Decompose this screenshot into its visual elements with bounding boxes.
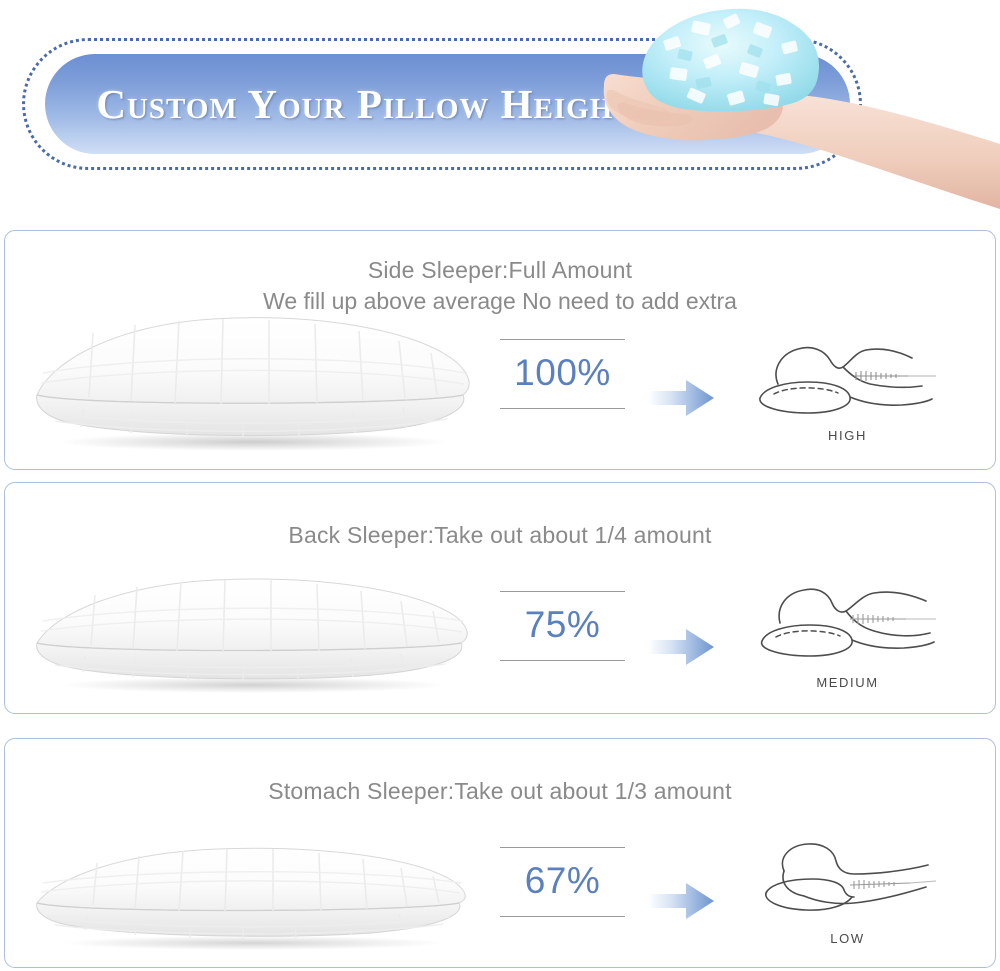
rule-bottom xyxy=(500,916,625,917)
arrow-right-icon xyxy=(646,625,716,669)
sleeper-card-back: Back Sleeper:Take out about 1/4 amount xyxy=(4,482,996,714)
sleeper-card-side: Side Sleeper:Full Amount We fill up abov… xyxy=(4,230,996,470)
posture-diagram-high xyxy=(750,336,945,421)
percent-value: 75% xyxy=(500,592,625,660)
forearm-shape xyxy=(750,93,1000,209)
shredded-foam-clump xyxy=(642,9,819,112)
posture-diagram-low xyxy=(750,839,945,924)
posture-label: HIGH xyxy=(750,428,945,443)
percent-block: 75% xyxy=(500,591,625,661)
pillow-image xyxy=(23,309,483,454)
posture-diagram-slot: MEDIUM xyxy=(750,583,945,690)
posture-label: LOW xyxy=(750,931,945,946)
pillow-image xyxy=(23,563,483,698)
page-title: Custom Your Pillow Height xyxy=(45,54,685,154)
arrow-right-icon xyxy=(646,376,716,420)
percent-block: 100% xyxy=(500,339,625,409)
header-banner: Custom Your Pillow Height xyxy=(0,0,1000,222)
percent-value: 100% xyxy=(500,340,625,408)
posture-diagram-slot: HIGH xyxy=(750,336,945,443)
percent-block: 67% xyxy=(500,847,625,917)
posture-diagram-medium xyxy=(750,583,945,668)
posture-diagram-slot: LOW xyxy=(750,839,945,946)
rule-bottom xyxy=(500,408,625,409)
card-heading: Back Sleeper:Take out about 1/4 amount xyxy=(5,522,995,549)
hand-holding-foam-illustration xyxy=(600,0,1000,209)
posture-label: MEDIUM xyxy=(750,675,945,690)
rule-bottom xyxy=(500,660,625,661)
percent-value: 67% xyxy=(500,848,625,916)
card-heading: Stomach Sleeper:Take out about 1/3 amoun… xyxy=(5,778,995,805)
card-heading: Side Sleeper:Full Amount xyxy=(5,257,995,284)
arrow-right-icon xyxy=(646,879,716,923)
sleeper-card-stomach: Stomach Sleeper:Take out about 1/3 amoun… xyxy=(4,738,996,968)
pillow-image xyxy=(23,829,483,957)
